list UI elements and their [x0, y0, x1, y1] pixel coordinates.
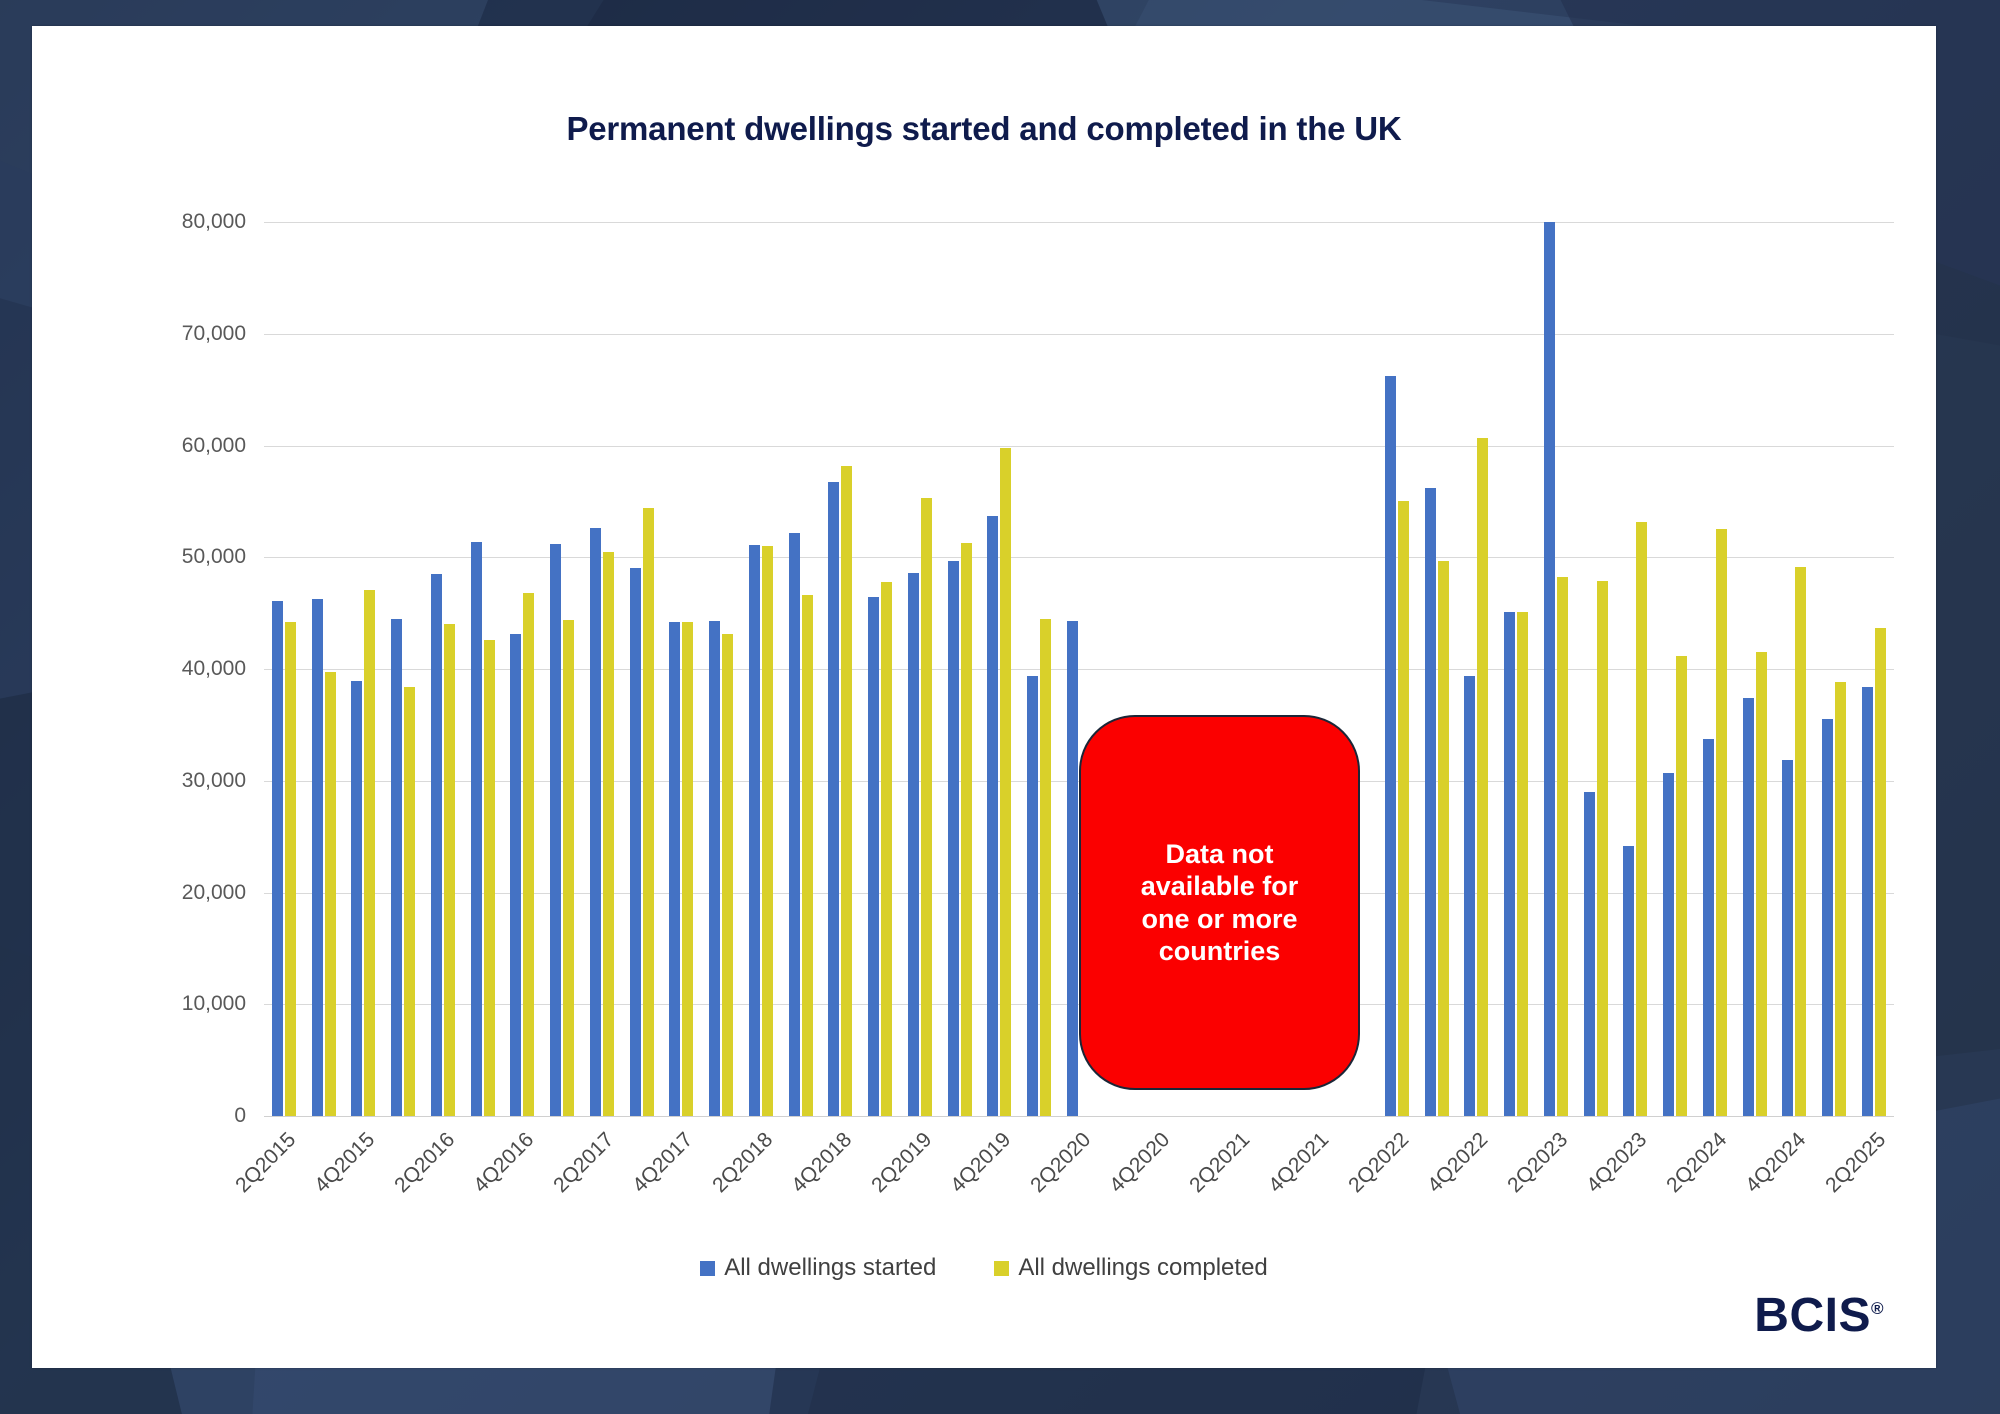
y-axis-tick-label: 30,000	[182, 769, 246, 793]
bar[interactable]	[1743, 698, 1754, 1116]
bar[interactable]	[987, 516, 998, 1116]
bar[interactable]	[669, 622, 680, 1116]
bar[interactable]	[523, 593, 534, 1116]
bar[interactable]	[312, 599, 323, 1116]
x-axis-tick-cell: 4Q2015	[344, 1122, 384, 1262]
x-axis-tick-cell: 4Q2021	[1298, 1122, 1338, 1262]
bar[interactable]	[590, 528, 601, 1116]
bar[interactable]	[272, 601, 283, 1116]
x-axis-tick-label: 2Q2015	[231, 1128, 301, 1198]
bar[interactable]	[868, 597, 879, 1116]
bar-group	[1655, 222, 1695, 1116]
bar[interactable]	[1464, 676, 1475, 1116]
bar[interactable]	[682, 622, 693, 1116]
x-axis-tick-cell: 2Q2023	[1536, 1122, 1576, 1262]
bar[interactable]	[1862, 687, 1873, 1116]
y-axis-tick-label: 20,000	[182, 881, 246, 905]
bar[interactable]	[841, 466, 852, 1116]
legend-swatch-completed-icon	[994, 1261, 1009, 1276]
gridline: 0	[264, 1116, 1894, 1117]
bar[interactable]	[364, 590, 375, 1116]
bar[interactable]	[1584, 792, 1595, 1116]
y-axis-tick-label: 50,000	[182, 545, 246, 569]
bar[interactable]	[563, 620, 574, 1116]
x-axis-tick-cell: 4Q2020	[1139, 1122, 1179, 1262]
x-axis-tick-cell: 2Q2022	[1377, 1122, 1417, 1262]
bar[interactable]	[1676, 656, 1687, 1116]
bar[interactable]	[908, 573, 919, 1116]
legend-item-started[interactable]: All dwellings started	[700, 1254, 936, 1282]
bar-group	[821, 222, 861, 1116]
bar[interactable]	[1398, 501, 1409, 1116]
legend-label-started: All dwellings started	[724, 1254, 936, 1282]
x-axis-tick-cell: 4Q2019	[980, 1122, 1020, 1262]
bar[interactable]	[1756, 652, 1767, 1116]
chart-title: Permanent dwellings started and complete…	[32, 110, 1936, 148]
bar-group	[1536, 222, 1576, 1116]
chart-card: Permanent dwellings started and complete…	[32, 26, 1936, 1368]
bar[interactable]	[1703, 739, 1714, 1116]
bar[interactable]	[961, 543, 972, 1116]
bar[interactable]	[762, 546, 773, 1116]
bar-group	[344, 222, 384, 1116]
x-axis-tick-cell: 2Q2019	[900, 1122, 940, 1262]
bcis-logo-text: BCIS	[1754, 1289, 1871, 1342]
bar-group	[582, 222, 622, 1116]
x-axis-tick-cell: 4Q2018	[821, 1122, 861, 1262]
bar[interactable]	[789, 533, 800, 1116]
bar-group	[662, 222, 702, 1116]
bar-group	[542, 222, 582, 1116]
x-axis-tick-cell: 2Q2018	[741, 1122, 781, 1262]
bar[interactable]	[921, 498, 932, 1116]
bar[interactable]	[391, 619, 402, 1116]
bar[interactable]	[1544, 222, 1555, 1116]
chart-legend: All dwellings started All dwellings comp…	[32, 1254, 1936, 1282]
bar[interactable]	[1782, 760, 1793, 1116]
bar-group	[1377, 222, 1417, 1116]
bar[interactable]	[550, 544, 561, 1116]
bar[interactable]	[351, 681, 362, 1116]
bar[interactable]	[325, 672, 336, 1116]
bar[interactable]	[285, 622, 296, 1116]
x-axis-tick-cell: 2Q2024	[1695, 1122, 1735, 1262]
bar[interactable]	[471, 542, 482, 1116]
bar-group	[701, 222, 741, 1116]
bcis-logo: BCIS®	[1754, 1292, 1884, 1340]
bar-group	[1576, 222, 1616, 1116]
bar-group	[1854, 222, 1894, 1116]
x-axis-tick-cell: 2Q2021	[1218, 1122, 1258, 1262]
x-axis-tick-cell: 2Q2017	[582, 1122, 622, 1262]
bar-group	[1695, 222, 1735, 1116]
bar[interactable]	[1000, 448, 1011, 1116]
bar-group	[383, 222, 423, 1116]
bar[interactable]	[1385, 376, 1396, 1116]
bar[interactable]	[1517, 612, 1528, 1116]
bar[interactable]	[828, 482, 839, 1116]
bar-group	[781, 222, 821, 1116]
bar[interactable]	[1636, 522, 1647, 1117]
no-data-callout-text: Data not available for one or more count…	[1125, 838, 1315, 967]
bar-group	[1775, 222, 1815, 1116]
bar[interactable]	[881, 582, 892, 1116]
y-axis-tick-label: 70,000	[182, 322, 246, 346]
x-axis-tick-cell: 4Q2023	[1616, 1122, 1656, 1262]
x-axis-tick-cell: 4Q2024	[1775, 1122, 1815, 1262]
bar-group	[1616, 222, 1656, 1116]
bar-group	[1417, 222, 1457, 1116]
y-axis-tick-label: 10,000	[182, 992, 246, 1016]
x-axis-tick-cell: 4Q2022	[1457, 1122, 1497, 1262]
bar[interactable]	[1477, 438, 1488, 1116]
bar-group	[264, 222, 304, 1116]
bar[interactable]	[1027, 676, 1038, 1116]
bar-group	[423, 222, 463, 1116]
y-axis-tick-label: 40,000	[182, 657, 246, 681]
y-axis-tick-label: 0	[234, 1104, 246, 1128]
bar[interactable]	[404, 687, 415, 1116]
bar[interactable]	[1623, 846, 1634, 1116]
bar-group	[622, 222, 662, 1116]
bar[interactable]	[510, 634, 521, 1116]
bar[interactable]	[1716, 529, 1727, 1116]
x-axis-tick-labels: 2Q20154Q20152Q20164Q20162Q20174Q20172Q20…	[264, 1122, 1894, 1262]
legend-swatch-started-icon	[700, 1261, 715, 1276]
no-data-callout: Data not available for one or more count…	[1079, 715, 1360, 1090]
bar[interactable]	[1425, 488, 1436, 1116]
x-axis-tick-cell: 4Q2016	[503, 1122, 543, 1262]
bar-group	[940, 222, 980, 1116]
x-axis-tick-cell: 2Q2016	[423, 1122, 463, 1262]
bar[interactable]	[948, 561, 959, 1116]
bar[interactable]	[1822, 719, 1833, 1116]
bar[interactable]	[722, 634, 733, 1116]
x-axis-tick-cell: 2Q2020	[1059, 1122, 1099, 1262]
x-axis-tick-cell: 2Q2025	[1854, 1122, 1894, 1262]
bar[interactable]	[1557, 577, 1568, 1116]
bar-group	[741, 222, 781, 1116]
bar-group	[1735, 222, 1775, 1116]
bar[interactable]	[1795, 567, 1806, 1116]
bar[interactable]	[1597, 581, 1608, 1116]
bar[interactable]	[1040, 619, 1051, 1116]
bar-group	[463, 222, 503, 1116]
bar[interactable]	[431, 574, 442, 1116]
bar[interactable]	[1835, 682, 1846, 1116]
bar-group	[900, 222, 940, 1116]
bar-group	[304, 222, 344, 1116]
bar[interactable]	[802, 595, 813, 1116]
bar-group	[980, 222, 1020, 1116]
bar[interactable]	[1663, 773, 1674, 1116]
bar[interactable]	[1504, 612, 1515, 1116]
x-axis-tick-cell: 4Q2017	[662, 1122, 702, 1262]
bar-group	[1457, 222, 1497, 1116]
y-axis-tick-label: 80,000	[182, 210, 246, 234]
bar[interactable]	[643, 508, 654, 1116]
bar-group	[1814, 222, 1854, 1116]
bar[interactable]	[603, 552, 614, 1116]
bar[interactable]	[630, 568, 641, 1116]
x-axis-tick-cell: 2Q2015	[264, 1122, 304, 1262]
legend-item-completed[interactable]: All dwellings completed	[994, 1254, 1267, 1282]
bar-group	[860, 222, 900, 1116]
y-axis-tick-label: 60,000	[182, 434, 246, 458]
registered-trademark-icon: ®	[1871, 1299, 1884, 1318]
bar-group	[503, 222, 543, 1116]
bar-group	[1496, 222, 1536, 1116]
legend-label-completed: All dwellings completed	[1018, 1254, 1267, 1282]
bar[interactable]	[1067, 621, 1078, 1116]
bar[interactable]	[1875, 628, 1886, 1116]
bar[interactable]	[484, 640, 495, 1116]
bar[interactable]	[749, 545, 760, 1116]
bar-group	[1019, 222, 1059, 1116]
bar[interactable]	[444, 624, 455, 1116]
bar[interactable]	[709, 621, 720, 1116]
bar[interactable]	[1438, 561, 1449, 1116]
